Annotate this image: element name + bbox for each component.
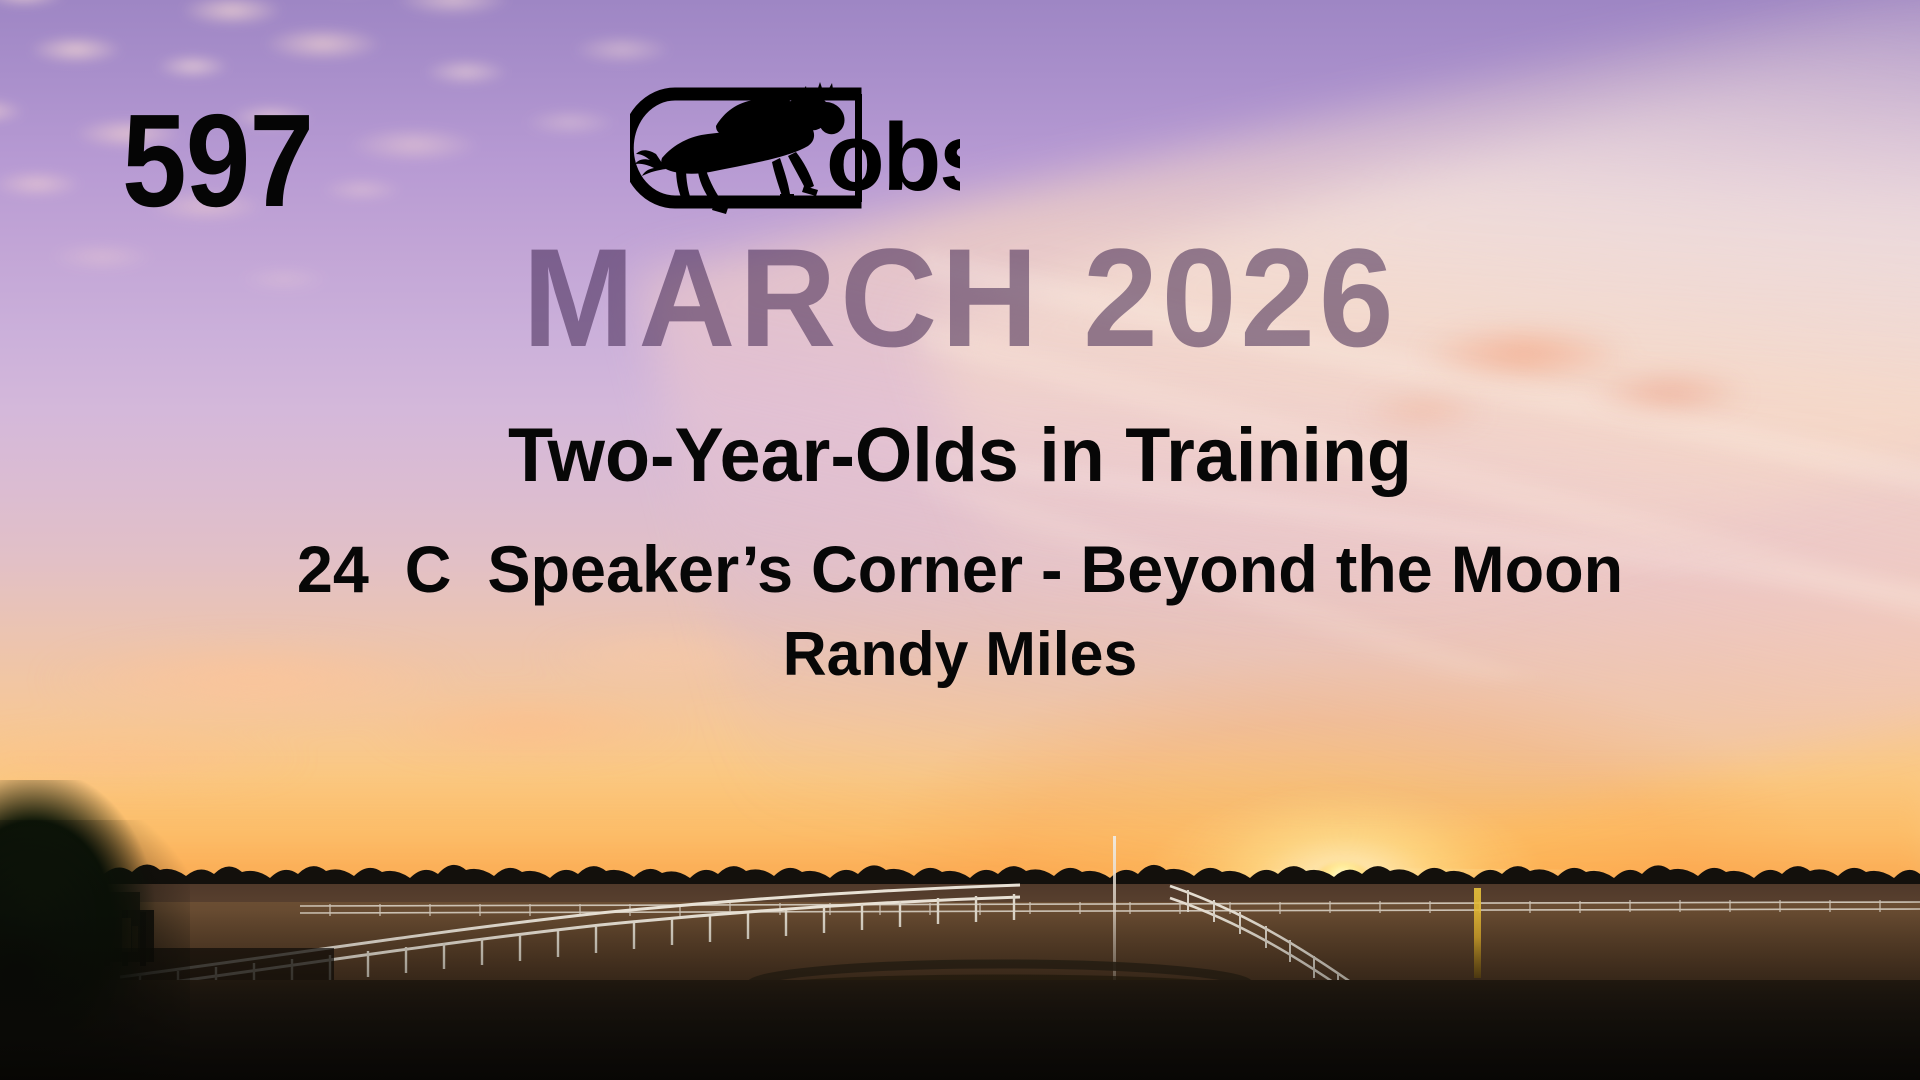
catalog-title-card: 597 — [0, 0, 1920, 1080]
obs-wordmark: obs — [826, 104, 960, 211]
sale-month-year: MARCH 2026 — [38, 228, 1881, 368]
obs-logo: obs — [630, 78, 960, 218]
racehorse-jockey-icon — [635, 82, 845, 214]
sale-type: Two-Year-Olds in Training — [29, 418, 1891, 494]
text-overlay: 597 — [0, 0, 1920, 1080]
hip-pedigree-line: 24 C Speaker’s Corner - Beyond the Moon — [19, 536, 1901, 602]
hip-number: 597 — [122, 95, 313, 227]
consignor-name: Randy Miles — [19, 624, 1901, 686]
